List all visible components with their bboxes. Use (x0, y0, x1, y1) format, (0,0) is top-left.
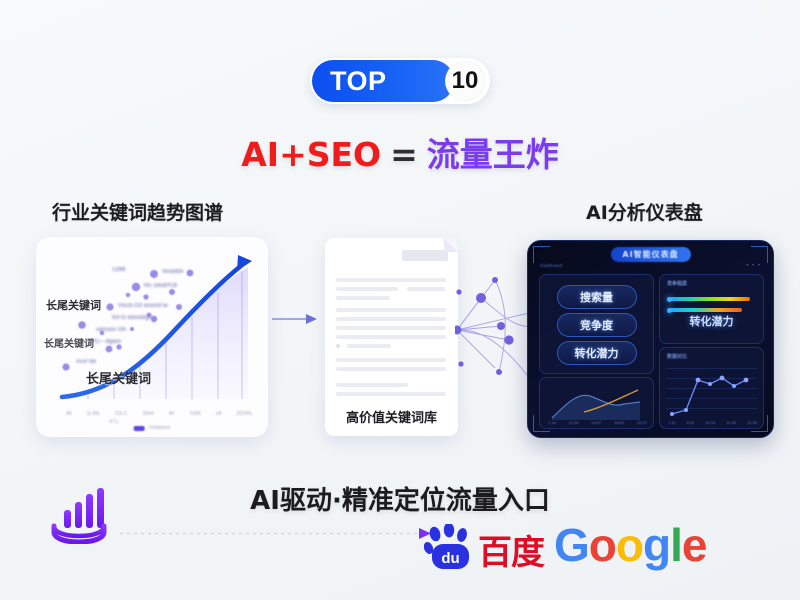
gauge-panel-caption: 竞争程度 (667, 280, 687, 287)
tick: 7.14 (548, 420, 556, 425)
doc-text-line (336, 278, 446, 282)
area-chart-ticks: 7.14 11.04 14.07 18.02 22.07 (548, 420, 647, 425)
headline-equals: = (390, 135, 418, 174)
doc-text-line (336, 287, 398, 291)
tick: 12.08 (747, 420, 757, 425)
google-letter: o (589, 519, 616, 571)
metric-pill-search-volume[interactable]: 搜索量 (557, 285, 637, 309)
doc-text-line (336, 317, 446, 321)
doc-text-line (407, 287, 445, 291)
doc-text-line (336, 326, 446, 330)
scatter-word: 0A'O alonidge (112, 315, 152, 321)
corner-decor (751, 246, 768, 263)
gauge-overlay-label: 转化潜力 (690, 313, 734, 329)
gauge-marker (667, 297, 672, 302)
google-letter: l (670, 519, 682, 571)
keyword-metrics-panel: 搜索量 竞争度 转化潜力 (539, 274, 654, 374)
trend-axis-ticks: 49 1L4% 7DLC 1844 4# 7d3K s9 2024% (66, 411, 252, 417)
scatter-word: Acir'ok (76, 359, 96, 365)
headline-right: 流量王炸 (427, 135, 559, 174)
trend-area-panel: 7.14 11.04 14.07 18.02 22.07 (539, 377, 654, 429)
top-rank-badge: TOP 10 (310, 58, 490, 104)
headline-left: AI+SEO (241, 135, 381, 174)
baidu-paw-icon: du (424, 524, 476, 572)
top-label-pill: TOP (312, 60, 454, 102)
doc-card-title: 高价值关键词库 (346, 407, 437, 426)
ai-dashboard-panel: AI智能仪表盘 Dashboard • • • 搜索量 竞争度 转化潜力 竞争程… (527, 240, 774, 438)
dashboard-menu-icon[interactable]: • • • (746, 263, 761, 269)
keyword-label: 长尾关键词 (44, 335, 94, 350)
scatter-word: Volatbli (162, 269, 183, 275)
doc-text-line (336, 308, 446, 312)
gauge-bar-primary (670, 297, 750, 301)
doc-text-line (336, 358, 446, 362)
search-engine-logos: du 百度 Google (424, 524, 706, 572)
dashboard-title: AI智能仪表盘 (610, 247, 690, 262)
metric-pill-competition[interactable]: 竞争度 (557, 313, 637, 337)
scatter-word: 1298 (112, 267, 125, 273)
trend-legend: Volabinos (134, 425, 171, 431)
baidu-wordmark: 百度 (478, 536, 544, 570)
gauge-marker (667, 308, 672, 313)
line-chart-ticks: 7.11 9.02 10.04 11.06 12.08 (668, 420, 757, 425)
top-number-circle: 10 (445, 61, 485, 101)
page-title: AI+SEO=流量王炸 (0, 128, 800, 176)
axis-tick: 2024% (236, 411, 252, 417)
keyword-label: 长尾关键词 (86, 368, 151, 387)
google-logo: Google (554, 522, 706, 568)
doc-text-line (336, 383, 408, 387)
tick: 18.02 (614, 420, 624, 425)
top-number: 10 (452, 67, 479, 95)
section-title-trend: 行业关键词趋势图谱 (52, 198, 223, 225)
axis-tick: 7DLC (115, 411, 128, 417)
tick: 9.02 (686, 420, 694, 425)
baidu-logo: du 百度 (424, 524, 544, 572)
doc-text-line (336, 392, 446, 396)
keyword-library-card: 高价值关键词库 (325, 238, 458, 436)
doc-header-block (402, 250, 448, 261)
scatter-word: Hc sikdPC8 (144, 283, 177, 289)
google-letter: o (616, 519, 643, 571)
legend-swatch (134, 426, 145, 431)
scatter-word: ugouio Oh (96, 327, 126, 333)
flow-arrow-icon (272, 312, 318, 326)
doc-bullet (336, 344, 340, 348)
doc-text-line (336, 335, 446, 339)
dashboard-line-chart (660, 348, 763, 428)
dashboard-subtitle: Dashboard (540, 263, 562, 268)
section-title-dashboard: AI分析仪表盘 (586, 198, 703, 225)
infographic-canvas: TOP 10 AI+SEO=流量王炸 行业关键词趋势图谱 AI分析仪表盘 (0, 0, 800, 600)
metric-pill-conversion[interactable]: 转化潜力 (557, 341, 637, 365)
tick: 14.07 (591, 420, 601, 425)
trend-sub-label: -47u (108, 419, 118, 425)
axis-tick: 1L4% (87, 411, 100, 417)
bar-chart-icon (46, 486, 112, 544)
axis-tick: 49 (66, 411, 72, 417)
doc-text-line (336, 367, 446, 371)
axis-tick: s9 (216, 411, 221, 417)
top-label: TOP (312, 66, 387, 97)
baidu-mark-text: du (441, 550, 459, 567)
connector-dotted-line (120, 533, 420, 534)
tick: 11.04 (569, 420, 579, 425)
tick: 10.04 (705, 420, 715, 425)
google-letter: e (682, 519, 707, 571)
google-letter: G (554, 519, 589, 571)
google-letter: g (643, 519, 670, 571)
competition-gauge-panel: 竞争程度 转化潜力 (659, 274, 764, 344)
axis-tick: 7d3K (189, 411, 201, 417)
axis-tick: 1844 (142, 411, 153, 417)
bottom-tagline: AI驱动·精准定位流量入口 (0, 480, 800, 517)
scatter-word: Vlo3i.O3 anonil'ai (118, 303, 168, 309)
corner-decor (533, 246, 550, 263)
keyword-label: 长尾关键词 (46, 297, 101, 313)
data-comparison-panel: 数据对比 7.11 9.02 10.04 11.06 12.08 (659, 347, 764, 429)
tick: 7.11 (668, 420, 676, 425)
axis-tick: 4# (169, 411, 175, 417)
tick: 22.07 (637, 420, 647, 425)
doc-text-line (347, 344, 391, 348)
legend-label: Volabinos (149, 425, 171, 431)
tick: 11.06 (726, 420, 736, 425)
doc-text-line (336, 296, 390, 300)
gauge-bar-secondary (670, 308, 742, 312)
